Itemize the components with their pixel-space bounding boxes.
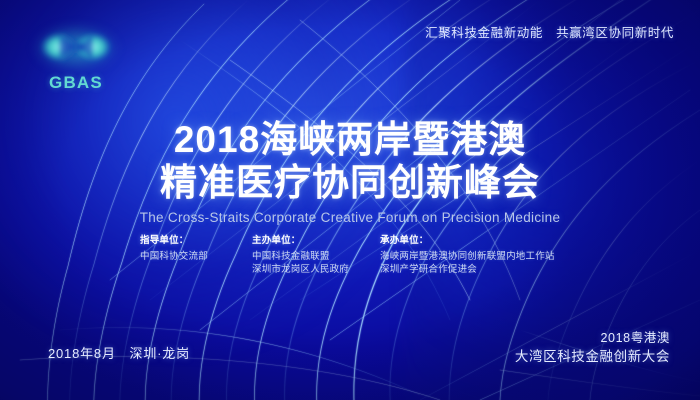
- organizers-block: 指导单位： 中国科协交流部 主办单位： 中国科技金融联盟 深圳市龙岗区人民政府 …: [140, 232, 580, 276]
- title-line-1: 2018海峡两岸暨港澳: [0, 118, 700, 161]
- footer-event-series: 2018粤港澳 大湾区科技金融创新大会: [515, 330, 670, 366]
- english-subtitle: The Cross-Straits Corporate Creative For…: [0, 210, 700, 225]
- event-poster: GBAS 汇聚科技金融新动能 共赢湾区协同新时代 2018海峡两岸暨港澳 精准医…: [0, 0, 700, 400]
- top-tagline: 汇聚科技金融新动能 共赢湾区协同新时代: [425, 22, 674, 41]
- organizer-item: 深圳市龙岗区人民政府: [252, 263, 380, 276]
- title-line-2: 精准医疗协同创新峰会: [0, 161, 700, 204]
- footer-series-line-1: 2018粤港澳: [515, 330, 670, 347]
- gbas-logo: GBAS: [34, 26, 118, 93]
- organizer-item: 中国科协交流部: [140, 250, 252, 263]
- organizer-item: 中国科技金融联盟: [252, 250, 380, 263]
- organizer-heading: 主办单位：: [252, 232, 380, 246]
- organizer-heading: 指导单位：: [140, 232, 252, 246]
- organizer-item: 深圳产学研合作促进会: [380, 263, 580, 276]
- organizer-heading: 承办单位：: [380, 232, 580, 246]
- title-block: 2018海峡两岸暨港澳 精准医疗协同创新峰会 The Cross-Straits…: [0, 118, 700, 225]
- organizer-column-guidance: 指导单位： 中国科协交流部: [140, 232, 252, 263]
- footer-date-location: 2018年8月 深圳·龙岗: [48, 343, 190, 362]
- gbas-bowtie-icon: [34, 26, 118, 70]
- organizer-column-host: 主办单位： 中国科技金融联盟 深圳市龙岗区人民政府: [252, 232, 380, 276]
- footer-series-line-2: 大湾区科技金融创新大会: [515, 347, 670, 366]
- organizer-column-undertaker: 承办单位： 海峡两岸暨港澳协同创新联盟内地工作站 深圳产学研合作促进会: [380, 232, 580, 276]
- organizer-item: 海峡两岸暨港澳协同创新联盟内地工作站: [380, 250, 580, 263]
- gbas-logo-text: GBAS: [34, 73, 118, 93]
